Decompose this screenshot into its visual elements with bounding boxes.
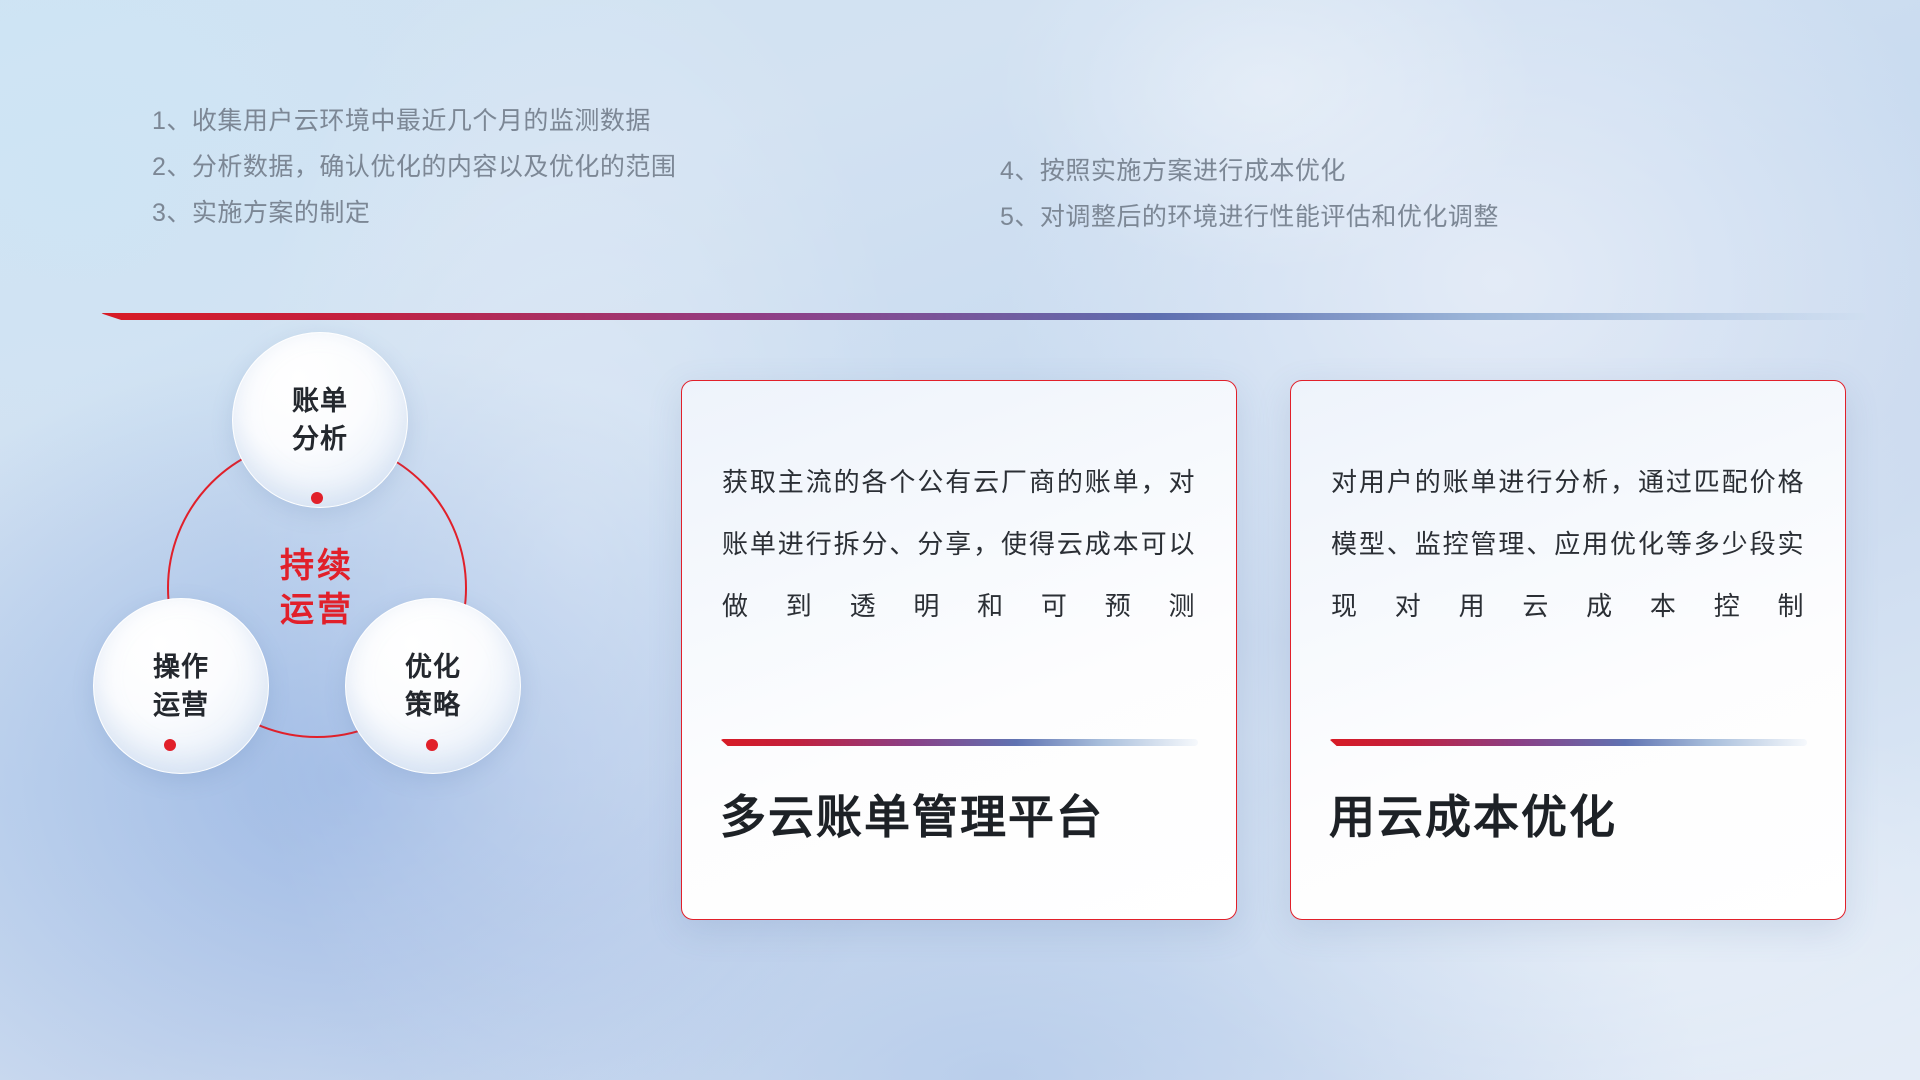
center-label-line2: 运营 bbox=[280, 588, 354, 632]
step-item-3: 3、实施方案的制定 bbox=[152, 190, 676, 236]
step-item-4: 4、按照实施方案进行成本优化 bbox=[1000, 148, 1499, 194]
feature-card-multicloud-billing[interactable]: 获取主流的各个公有云厂商的账单，对账单进行拆分、分享，使得云成本可以做到透明和可… bbox=[681, 380, 1237, 920]
step-item-2: 2、分析数据，确认优化的内容以及优化的范围 bbox=[152, 144, 676, 190]
node-label-line2: 策略 bbox=[405, 686, 461, 724]
diagram-node-operations[interactable]: 操作 运营 bbox=[93, 598, 269, 774]
node-label-line1: 账单 bbox=[292, 382, 348, 420]
card-body-text: 获取主流的各个公有云厂商的账单，对账单进行拆分、分享，使得云成本可以做到透明和可… bbox=[722, 451, 1196, 637]
center-label-line1: 持续 bbox=[280, 544, 354, 588]
steps-list-left: 1、收集用户云环境中最近几个月的监测数据 2、分析数据，确认优化的内容以及优化的… bbox=[152, 98, 676, 236]
card-title: 用云成本优化 bbox=[1329, 781, 1617, 847]
step-item-1: 1、收集用户云环境中最近几个月的监测数据 bbox=[152, 98, 676, 144]
node-dot-left-icon bbox=[164, 739, 176, 751]
section-divider bbox=[100, 313, 1866, 320]
node-label-line1: 操作 bbox=[153, 648, 209, 686]
card-title: 多云账单管理平台 bbox=[720, 781, 1104, 847]
feature-card-cost-optimization[interactable]: 对用户的账单进行分析，通过匹配价格模型、监控管理、应用优化等多少段实现对用云成本… bbox=[1290, 380, 1846, 920]
card-body-text: 对用户的账单进行分析，通过匹配价格模型、监控管理、应用优化等多少段实现对用云成本… bbox=[1331, 451, 1805, 637]
node-dot-right-icon bbox=[426, 739, 438, 751]
steps-list-right: 4、按照实施方案进行成本优化 5、对调整后的环境进行性能评估和优化调整 bbox=[1000, 148, 1499, 240]
node-dot-top-icon bbox=[311, 492, 323, 504]
continuous-operation-diagram: 持续 运营 账单 分析 操作 运营 优化 策略 bbox=[90, 340, 620, 940]
node-label-line2: 运营 bbox=[153, 686, 209, 724]
card-accent-rule bbox=[1329, 739, 1807, 746]
diagram-node-bill-analysis[interactable]: 账单 分析 bbox=[232, 332, 408, 508]
slide-canvas: 1、收集用户云环境中最近几个月的监测数据 2、分析数据，确认优化的内容以及优化的… bbox=[0, 0, 1920, 1080]
node-label-line2: 分析 bbox=[292, 420, 348, 458]
step-item-5: 5、对调整后的环境进行性能评估和优化调整 bbox=[1000, 194, 1499, 240]
node-label-line1: 优化 bbox=[405, 648, 461, 686]
card-accent-rule bbox=[720, 739, 1198, 746]
